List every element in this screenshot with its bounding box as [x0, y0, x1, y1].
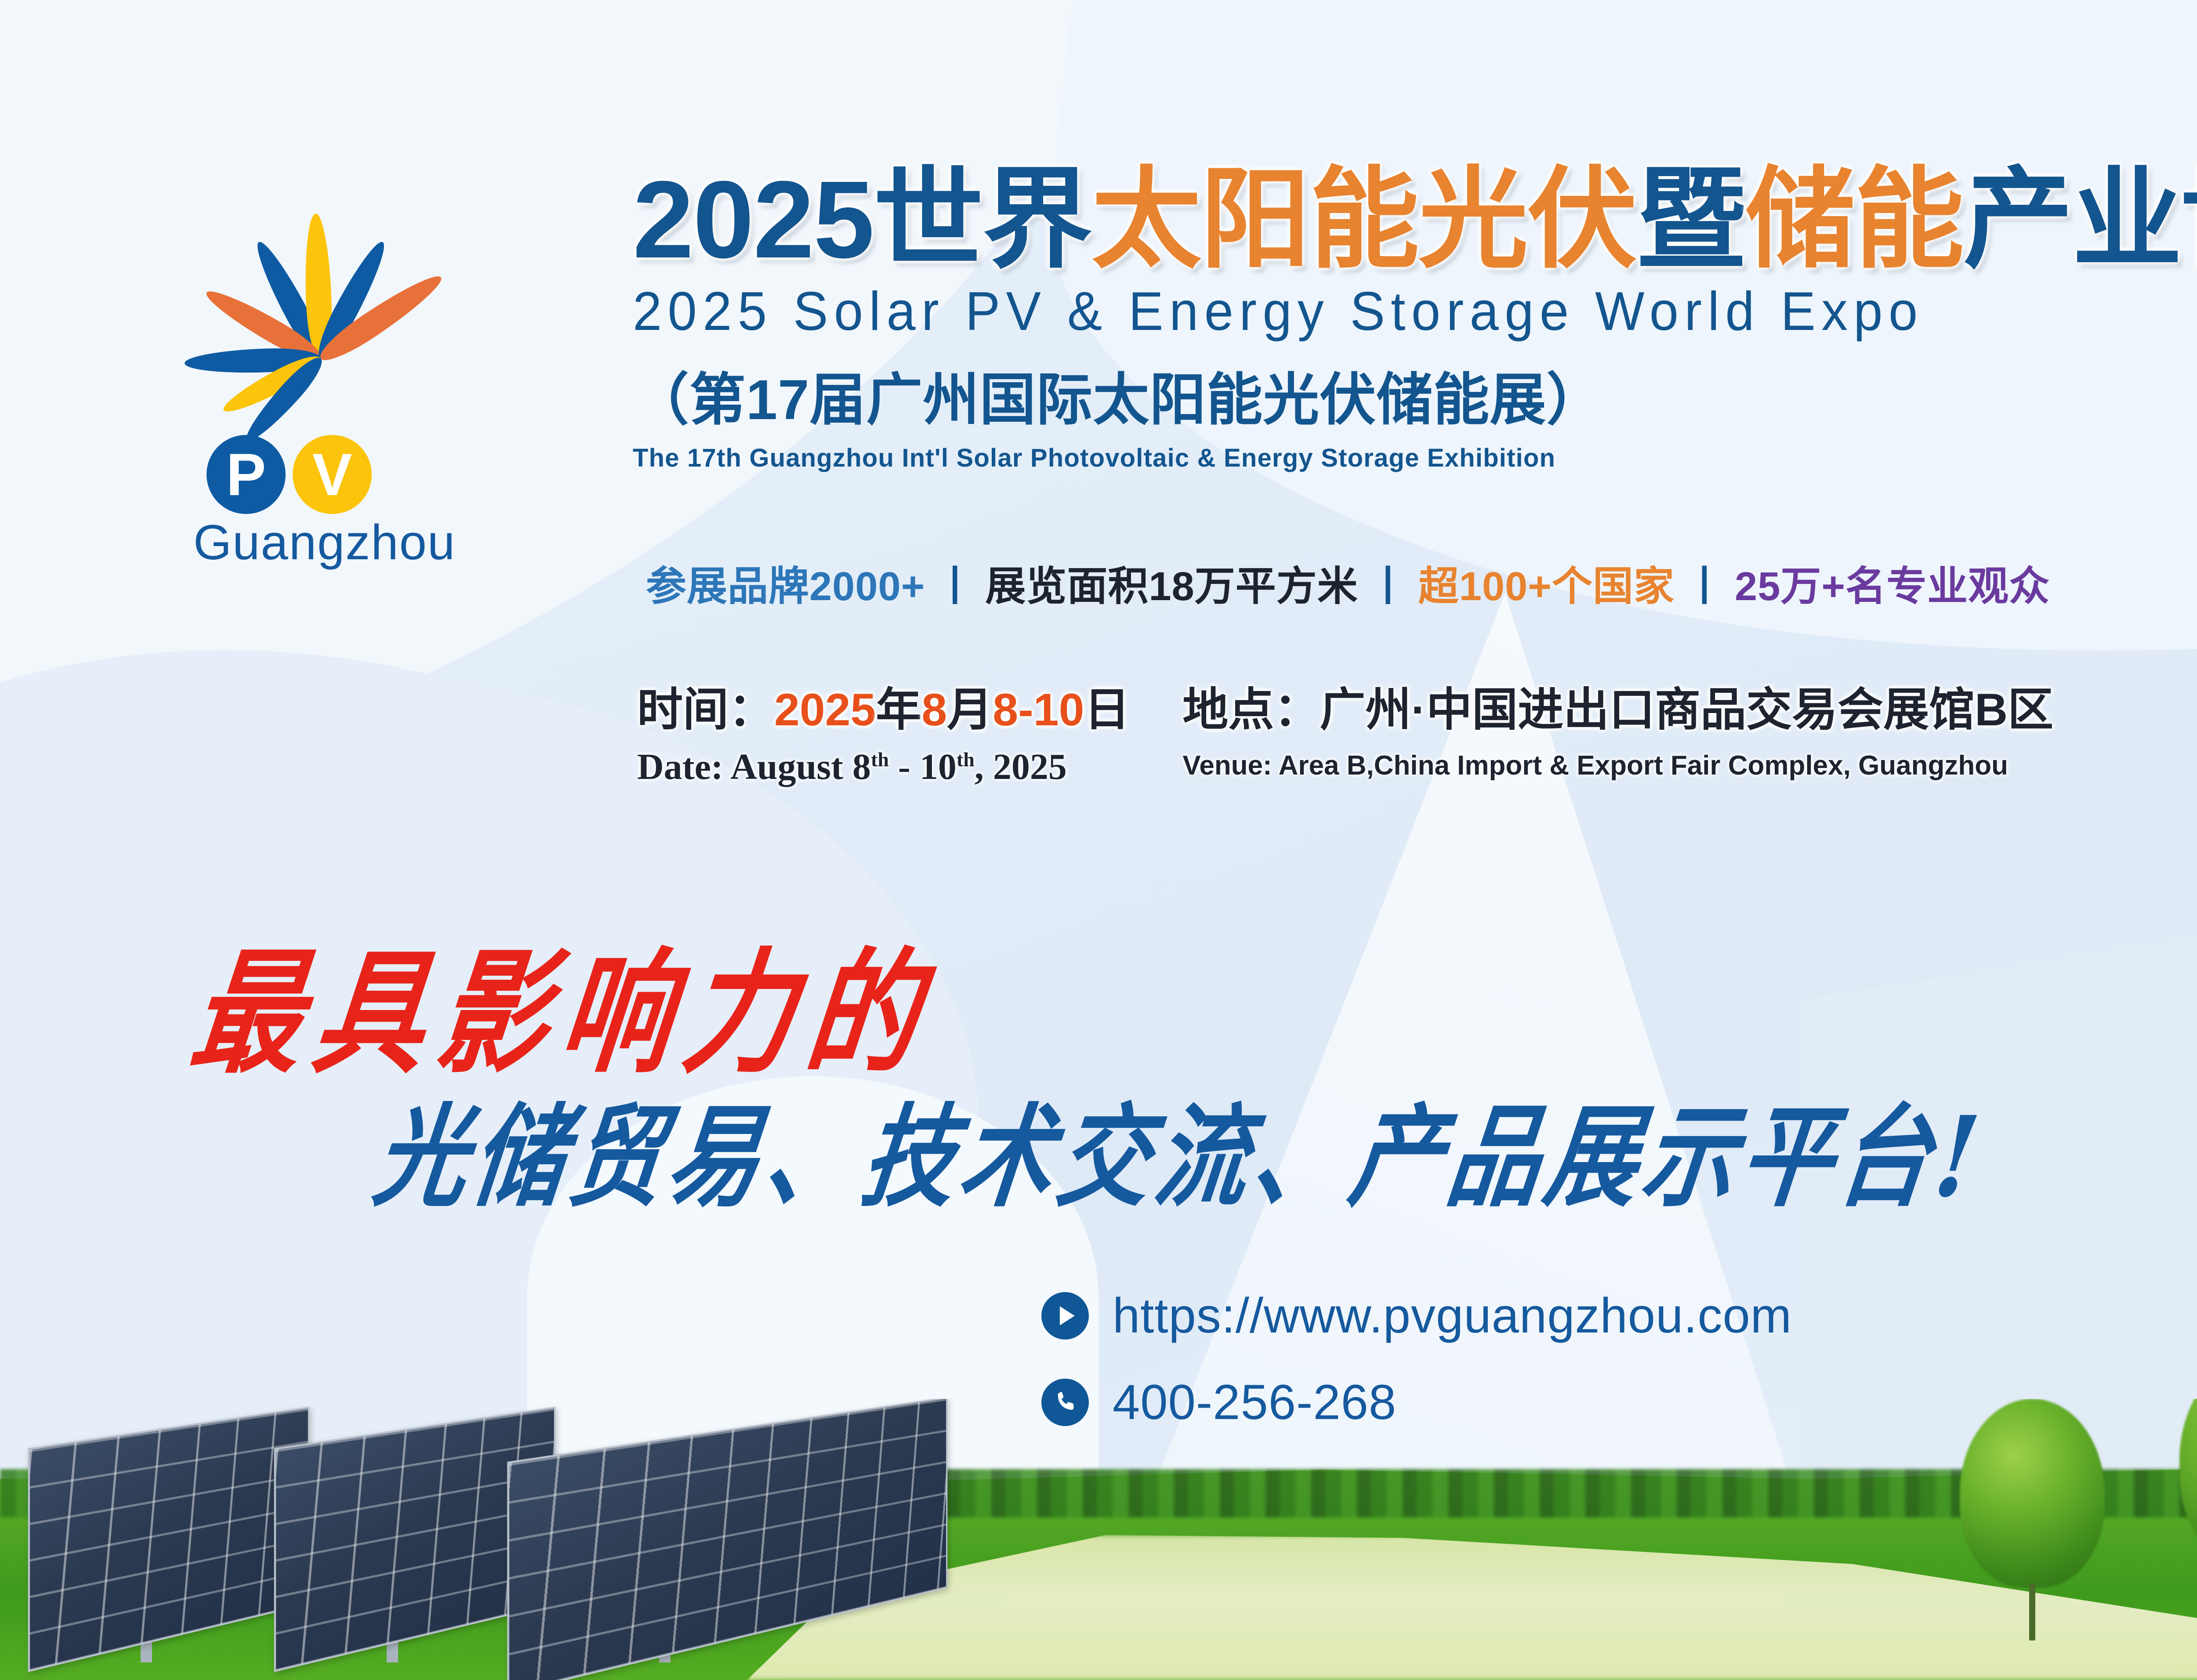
stats-separator: 丨	[935, 554, 975, 612]
pv-monogram: P V	[207, 435, 372, 514]
solar-panel	[507, 1399, 947, 1680]
venue-line-en: Venue: Area B,China Import & Export Fair…	[1182, 750, 2053, 781]
date-en-sup1: th	[871, 748, 889, 771]
date-days: 8-10	[993, 684, 1084, 735]
date-month-char: 月	[947, 684, 993, 735]
venue-label-cn: 地点：	[1182, 684, 1320, 735]
main-title-cn: 2025世界太阳能光伏暨储能产业博览会	[633, 163, 2197, 277]
main-title-part-0: 2025	[633, 158, 874, 281]
date-column: 时间：2025年8月8-10日 Date: August 8th - 10th,…	[637, 672, 1130, 788]
date-month: 8	[921, 684, 947, 735]
pv-guangzhou-logo: P V Guangzhou	[62, 176, 580, 650]
tree-left	[1960, 1399, 2105, 1588]
stats-item-3: 25万+名专业观众	[1735, 554, 2050, 612]
poster-canvas: P V Guangzhou 2025世界太阳能光伏暨储能产业博览会 2025 S…	[0, 0, 2197, 1680]
stats-strip: 参展品牌2000+丨展览面积18万平方米丨超100+个国家丨25万+名专业观众	[646, 554, 2050, 612]
date-en-suffix: , 2025	[975, 746, 1067, 787]
solar-panel-array	[9, 1416, 1019, 1662]
main-title-part-3: 暨	[1636, 158, 1745, 281]
date-en-mid: - 10	[889, 746, 957, 787]
main-title-part-5: 产业博览会	[1963, 158, 2197, 281]
logo-letter-p: P	[207, 435, 286, 514]
main-title-part-2: 太阳能光伏	[1091, 158, 1636, 281]
stats-item-0: 参展品牌2000+	[646, 554, 925, 612]
stats-separator: 丨	[1684, 554, 1725, 612]
tree-crown	[1960, 1399, 2105, 1588]
slogan-blue-line: 光储贸易、技术交流、产品展示平台!	[367, 1068, 1993, 1228]
subtitle-cn: （第17届广州国际太阳能光伏储能展）	[633, 354, 2197, 435]
main-title-part-4: 储能	[1745, 158, 1963, 281]
header-text-block: 2025世界太阳能光伏暨储能产业博览会 2025 Solar PV & Ener…	[633, 163, 2197, 473]
tree-trunk	[2029, 1583, 2035, 1640]
website-row[interactable]: https://www.pvguangzhou.com	[1041, 1287, 1792, 1344]
subtitle-en: The 17th Guangzhou Int'l Solar Photovolt…	[633, 443, 2197, 473]
date-en-prefix: Date: August 8	[637, 746, 871, 787]
venue-line-cn: 地点：广州·中国进出口商品交易会展馆B区	[1182, 672, 2053, 739]
date-year: 2025	[774, 684, 876, 735]
tree-center	[2179, 1399, 2197, 1579]
tree-crown	[2179, 1399, 2197, 1579]
website-url[interactable]: https://www.pvguangzhou.com	[1113, 1287, 1792, 1344]
stats-item-1: 展览面积18万平方米	[985, 554, 1358, 612]
date-line-cn: 时间：2025年8月8-10日	[637, 672, 1130, 739]
solar-panel	[28, 1407, 310, 1672]
logo-wordmark: Guangzhou	[193, 514, 456, 571]
date-line-en: Date: August 8th - 10th, 2025	[637, 746, 1130, 788]
landscape-footer	[0, 1399, 2197, 1680]
date-label-cn: 时间：	[637, 684, 774, 735]
date-day-char: 日	[1084, 684, 1130, 735]
venue-column: 地点：广州·中国进出口商品交易会展馆B区 Venue: Area B,China…	[1182, 672, 2053, 781]
stats-separator: 丨	[1368, 554, 1409, 612]
stats-item-2: 超100+个国家	[1418, 554, 1675, 612]
logo-letter-v: V	[293, 435, 372, 514]
venue-value-cn: 广州·中国进出口商品交易会展馆B区	[1320, 684, 2053, 735]
main-title-part-1: 世界	[874, 158, 1091, 281]
main-title-en: 2025 Solar PV & Energy Storage World Exp…	[633, 280, 2197, 343]
date-en-sup2: th	[957, 748, 975, 771]
play-arrow-icon	[1041, 1292, 1089, 1340]
date-venue-block: 时间：2025年8月8-10日 Date: August 8th - 10th,…	[637, 672, 2106, 788]
date-year-char: 年	[876, 684, 921, 735]
